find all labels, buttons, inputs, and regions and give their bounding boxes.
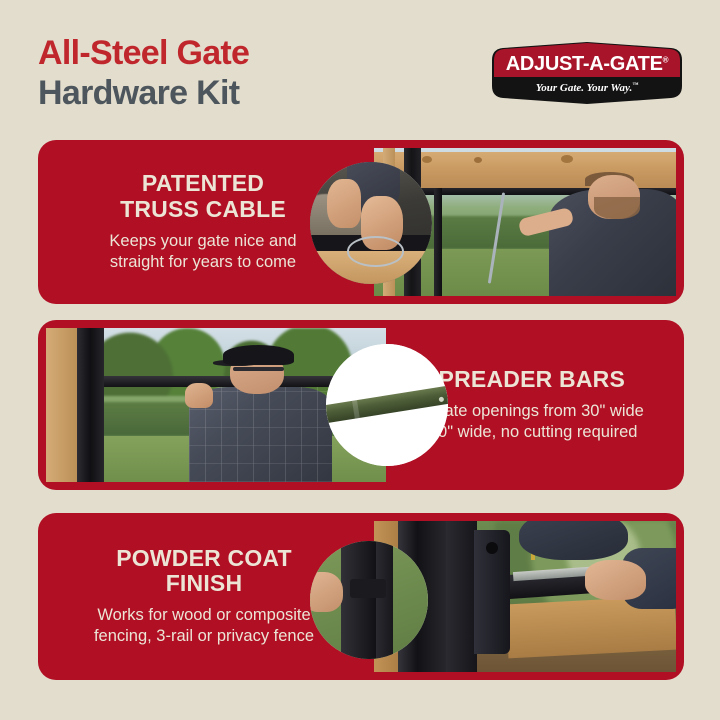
panel-headline-powder-coat: POWDER COAT FINISH (116, 546, 292, 598)
trademark-mark-icon: ™ (632, 82, 638, 88)
feature-panel-patented-truss-cable: PATENTED TRUSS CABLE Keeps your gate nic… (38, 140, 684, 304)
panel-headline-line-1: POWDER COAT (116, 545, 292, 571)
adjust-a-gate-logo: ADJUST-A-GATE® Your Gate. Your Way.™ (489, 42, 685, 104)
page-title: All-Steel Gate Hardware Kit (38, 36, 249, 110)
page-title-line-1: All-Steel Gate (38, 36, 249, 70)
panel-inset-photo-spreader-bars (326, 344, 448, 466)
panel-inset-photo-powder-coat (310, 541, 428, 659)
panel-headline-line-1: PATENTED (142, 170, 264, 196)
logo-brand-text: ADJUST-A-GATE® (489, 53, 685, 76)
registered-mark-icon: ® (663, 55, 669, 64)
panel-headline-truss-cable: PATENTED TRUSS CABLE (120, 171, 286, 223)
panel-headline-spreader-bars: SPREADER BARS (423, 367, 625, 393)
panel-headline-line-2: TRUSS CABLE (120, 196, 286, 222)
feature-panel-spreader-bars: SPREADER BARS Fits gate openings from 30… (38, 320, 684, 490)
page-header: All-Steel Gate Hardware Kit ADJUST-A-GAT… (0, 0, 720, 140)
feature-panel-powder-coat-finish: POWDER COAT FINISH Works for wood or com… (38, 513, 684, 680)
logo-tagline-label: Your Gate. Your Way. (536, 82, 632, 94)
panel-body-truss-cable: Keeps your gate nice and straight for ye… (84, 231, 322, 273)
panel-inset-photo-truss-cable (310, 162, 432, 284)
panel-body-powder-coat: Works for wood or composite fencing, 3-r… (78, 605, 330, 647)
logo-tagline-text: Your Gate. Your Way.™ (489, 82, 685, 94)
panel-headline-line-2: FINISH (166, 570, 243, 596)
logo-brand-label: ADJUST-A-GATE (506, 53, 663, 75)
page-title-line-2: Hardware Kit (38, 76, 249, 110)
